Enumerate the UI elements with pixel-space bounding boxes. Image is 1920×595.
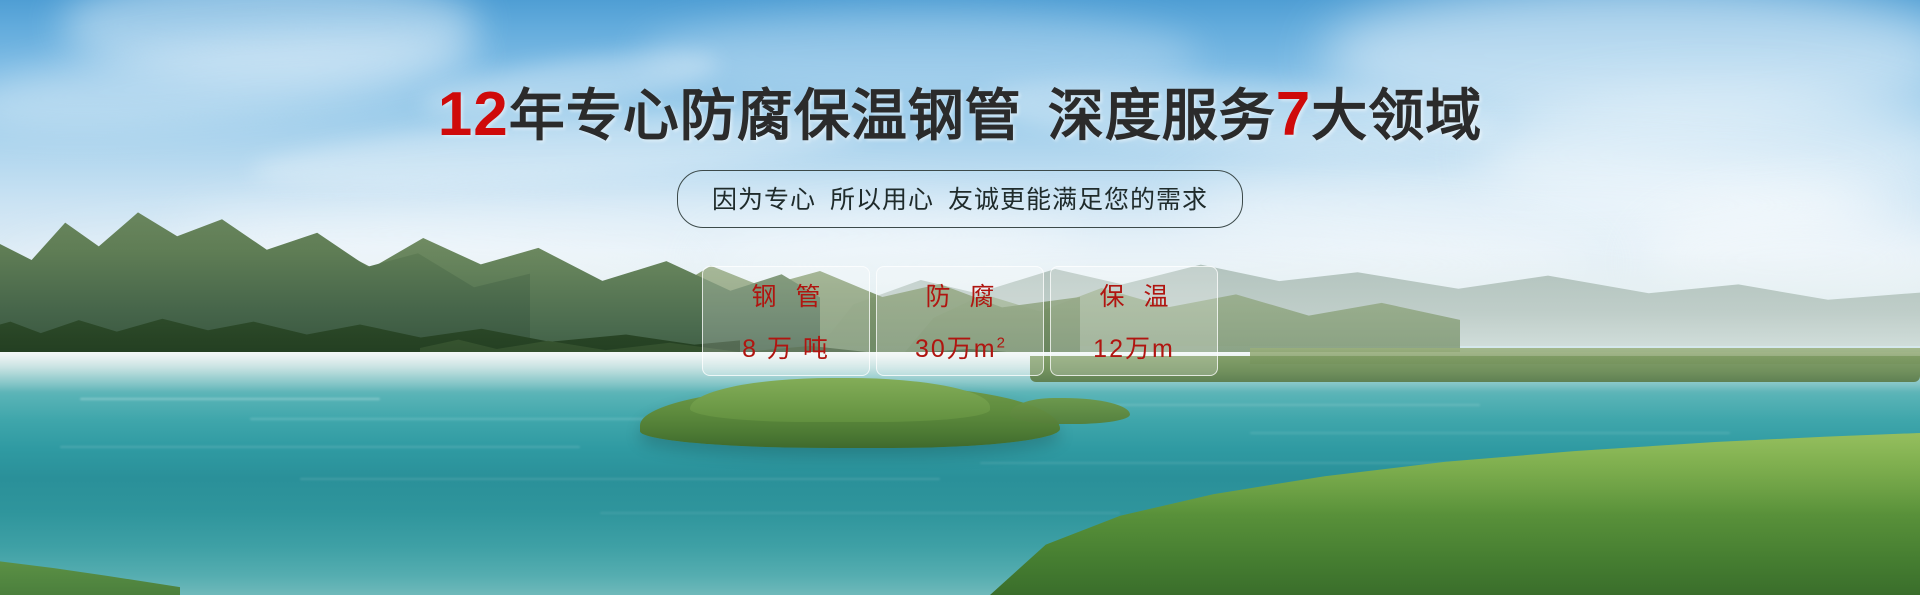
- stat-value-superscript: 2: [997, 335, 1005, 352]
- banner-subtitle-pill: 因为专心所以用心友诚更能满足您的需求: [677, 170, 1243, 228]
- stat-value: 12万m: [1093, 329, 1175, 365]
- headline-years-number: 12: [438, 80, 509, 149]
- stat-label: 钢 管: [746, 277, 827, 313]
- stat-value: 8 万 吨: [742, 329, 830, 365]
- subtitle-part-2: 所以用心: [830, 186, 934, 214]
- stat-value-text: 30万m: [915, 335, 997, 363]
- stat-card-group: 钢 管 8 万 吨 防 腐 30万m2 保 温 12万m: [0, 266, 1920, 376]
- stat-card-steel-pipe: 钢 管 8 万 吨: [702, 266, 870, 376]
- headline-fields-number: 7: [1276, 80, 1311, 149]
- subtitle-part-3: 友诚更能满足您的需求: [948, 186, 1208, 214]
- banner-headline: 12年专心防腐保温钢管深度服务7大领域: [0, 84, 1920, 146]
- stat-value-text: 12万m: [1093, 335, 1175, 363]
- headline-text-primary: 年专心防腐保温钢管: [509, 84, 1022, 147]
- headline-text-tertiary: 大领域: [1311, 84, 1482, 147]
- stat-card-insulation: 保 温 12万m: [1050, 266, 1218, 376]
- banner-subtitle-wrapper: 因为专心所以用心友诚更能满足您的需求: [0, 170, 1920, 228]
- stat-card-anticorrosion: 防 腐 30万m2: [876, 266, 1044, 376]
- headline-text-secondary: 深度服务: [1048, 84, 1276, 147]
- subtitle-part-1: 因为专心: [712, 186, 816, 214]
- stat-value-text: 8 万 吨: [742, 335, 830, 363]
- stat-value: 30万m2: [915, 329, 1005, 365]
- stat-label: 防 腐: [920, 277, 1001, 313]
- hero-banner: 12年专心防腐保温钢管深度服务7大领域 因为专心所以用心友诚更能满足您的需求 钢…: [0, 0, 1920, 595]
- banner-content: 12年专心防腐保温钢管深度服务7大领域 因为专心所以用心友诚更能满足您的需求 钢…: [0, 0, 1920, 595]
- stat-label: 保 温: [1094, 277, 1175, 313]
